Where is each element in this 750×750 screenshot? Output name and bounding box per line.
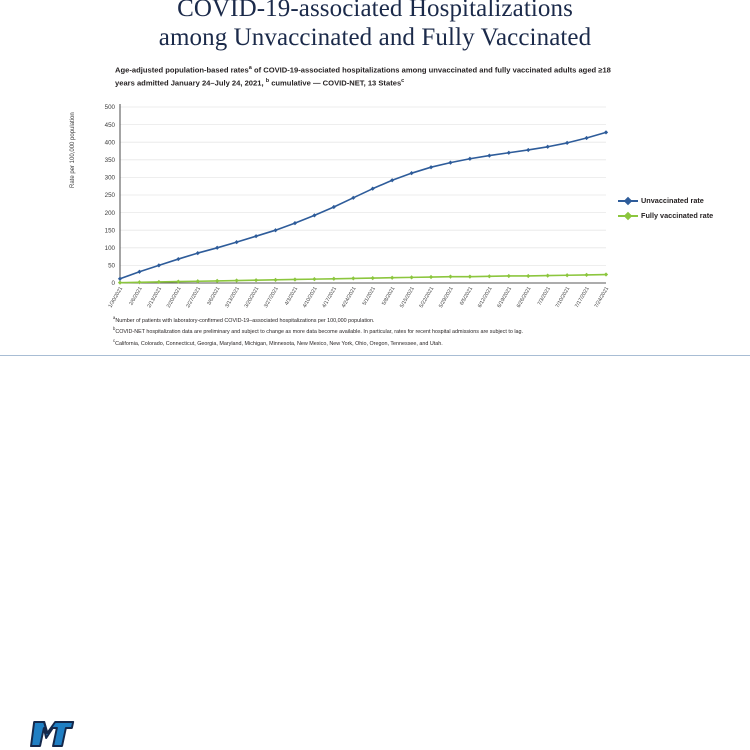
- svg-text:300: 300: [105, 175, 116, 182]
- chart-legend: Unvaccinated rate Fully vaccinated rate: [618, 193, 713, 223]
- svg-text:400: 400: [105, 139, 116, 146]
- svg-text:5/22/2021: 5/22/2021: [419, 286, 436, 309]
- svg-text:250: 250: [105, 192, 116, 199]
- footnote-a: aNumber of patients with laboratory-conf…: [113, 314, 633, 325]
- legend-label-unvaccinated: Unvaccinated rate: [641, 196, 704, 205]
- page-title: COVID-19-associated Hospitalizations amo…: [0, 0, 750, 52]
- legend-item-fully-vaccinated: Fully vaccinated rate: [618, 208, 713, 223]
- svg-text:350: 350: [105, 157, 116, 164]
- svg-text:2/13/2021: 2/13/2021: [146, 286, 163, 309]
- chart-container: Rate per 100,000 population 050100150200…: [78, 100, 618, 315]
- svg-text:4/10/2021: 4/10/2021: [302, 286, 319, 309]
- subtitle-text-1: Age-adjusted population-based rates: [115, 66, 249, 75]
- footnote-text-c: California, Colorado, Connecticut, Georg…: [115, 341, 443, 347]
- svg-text:1/30/2021: 1/30/2021: [107, 286, 124, 309]
- svg-text:5/29/2021: 5/29/2021: [438, 286, 455, 309]
- svg-text:450: 450: [105, 122, 116, 129]
- svg-text:3/13/2021: 3/13/2021: [224, 286, 241, 309]
- subtitle-text-1b: of COVID-19-associated hospitalizations …: [252, 66, 552, 75]
- svg-text:7/10/2021: 7/10/2021: [555, 286, 572, 309]
- svg-text:3/20/2021: 3/20/2021: [244, 286, 261, 309]
- legend-label-fully-vaccinated: Fully vaccinated rate: [641, 211, 713, 220]
- svg-text:4/17/2021: 4/17/2021: [321, 286, 338, 309]
- svg-text:100: 100: [105, 245, 116, 252]
- svg-text:2/6/2021: 2/6/2021: [128, 286, 143, 307]
- svg-text:0: 0: [112, 280, 116, 287]
- legend-item-unvaccinated: Unvaccinated rate: [618, 193, 713, 208]
- svg-text:6/26/2021: 6/26/2021: [516, 286, 533, 309]
- svg-text:5/8/2021: 5/8/2021: [381, 286, 396, 307]
- svg-text:6/5/2021: 6/5/2021: [459, 286, 474, 307]
- svg-text:2/27/2021: 2/27/2021: [185, 286, 202, 309]
- svg-text:2/20/2021: 2/20/2021: [166, 286, 183, 309]
- legend-swatch-fully-vaccinated: [618, 211, 638, 220]
- svg-text:4/3/2021: 4/3/2021: [284, 286, 299, 307]
- svg-text:500: 500: [105, 104, 116, 111]
- svg-text:7/17/2021: 7/17/2021: [574, 286, 591, 309]
- title-line-2: among Unvaccinated and Fully Vaccinated: [0, 23, 750, 52]
- svg-text:50: 50: [108, 263, 115, 270]
- svg-text:5/15/2021: 5/15/2021: [399, 286, 416, 309]
- svg-text:5/1/2021: 5/1/2021: [362, 286, 377, 307]
- svg-text:3/27/2021: 3/27/2021: [263, 286, 280, 309]
- mtsu-logo: [22, 718, 84, 750]
- subtitle-text-2b: cumulative — COVID-NET, 13 States: [269, 79, 401, 88]
- footnotes: aNumber of patients with laboratory-conf…: [113, 314, 633, 348]
- y-axis-title: Rate per 100,000 population: [70, 112, 76, 188]
- legend-swatch-unvaccinated: [618, 196, 638, 205]
- svg-text:7/24/2021: 7/24/2021: [593, 286, 610, 309]
- footnote-b: bCOVID-NET hospitalization data are prel…: [113, 325, 633, 336]
- svg-text:4/24/2021: 4/24/2021: [341, 286, 358, 309]
- footnote-text-b: COVID-NET hospitalization data are preli…: [115, 329, 523, 335]
- title-line-1: COVID-19-associated Hospitalizations: [0, 0, 750, 23]
- chart-subtitle: Age-adjusted population-based ratesa of …: [115, 63, 625, 89]
- svg-text:200: 200: [105, 210, 116, 217]
- footnote-text-a: Number of patients with laboratory-confi…: [115, 318, 374, 324]
- svg-text:6/19/2021: 6/19/2021: [496, 286, 513, 309]
- footnote-c: cCalifornia, Colorado, Connecticut, Geor…: [113, 337, 633, 348]
- subtitle-footnote-marker-c: c: [401, 78, 404, 84]
- line-chart: 0501001502002503003504004505001/30/20212…: [78, 100, 618, 315]
- svg-text:150: 150: [105, 227, 116, 234]
- svg-text:3/6/2021: 3/6/2021: [206, 286, 221, 307]
- svg-text:6/12/2021: 6/12/2021: [477, 286, 494, 309]
- svg-text:7/3/2021: 7/3/2021: [537, 286, 552, 307]
- presentation-slide: COVID-19-associated Hospitalizations amo…: [0, 0, 750, 400]
- slide-footer: [0, 356, 750, 400]
